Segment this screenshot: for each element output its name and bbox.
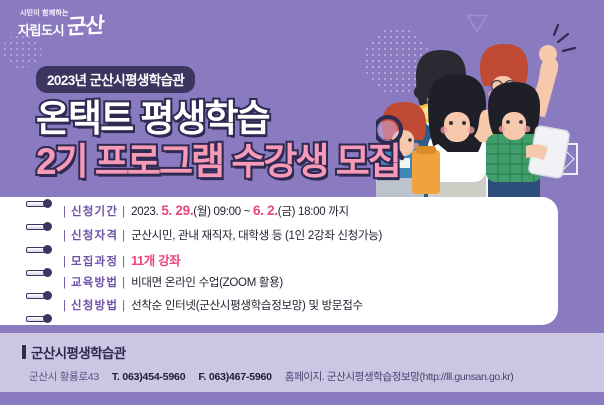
info-label: | 모집과정 |: [63, 253, 131, 269]
info-row-eligibility: | 신청자격 | 군산시민, 관내 재직자, 대학생 등 (1인 2강좌 신청가…: [63, 227, 533, 251]
footer-homepage[interactable]: 홈페이지. 군산시평생학습정보망(http://lll.gunsan.go.kr…: [285, 369, 514, 384]
period-suffix: (금) 18:00 까지: [278, 206, 349, 218]
period-start-date: 5. 29.: [161, 203, 193, 218]
headline-block: 2023년 군산시평생학습관 온택트 평생학습 2기 프로그램 수강생 모집: [36, 66, 400, 180]
ring-icon: [26, 268, 52, 277]
ring-icon: [26, 222, 52, 231]
info-list: | 신청기간 | 2023. 5. 29.(월) 09:00 ~ 6. 2.(금…: [63, 203, 533, 321]
title-line-1: 온택트 평생학습: [36, 100, 400, 137]
footer-telephone: T. 063)454-5960: [112, 371, 185, 383]
info-label-text: 신청방법: [71, 297, 118, 313]
info-label-text: 신청기간: [71, 203, 118, 219]
info-label: | 교육방법 |: [63, 274, 131, 290]
period-prefix: 2023.: [131, 206, 161, 218]
bottom-strip: [0, 392, 604, 405]
accent-bar-icon: [22, 345, 26, 359]
info-value: 군산시민, 관내 재직자, 대학생 등 (1인 2강좌 신청가능): [131, 227, 382, 243]
notebook-rings: [26, 199, 52, 323]
ring-icon: [26, 314, 52, 323]
period-end-date: 6. 2.: [253, 203, 278, 218]
ring-icon: [26, 291, 52, 300]
info-row-application-period: | 신청기간 | 2023. 5. 29.(월) 09:00 ~ 6. 2.(금…: [63, 203, 533, 227]
info-label-text: 모집과정: [71, 253, 118, 269]
city-logo-kind: 자립도시: [18, 24, 64, 38]
info-label-text: 교육방법: [71, 274, 118, 290]
info-value: 비대면 온라인 수업(ZOOM 활용): [131, 274, 283, 290]
info-row-course-count: | 모집과정 | 11개 강좌: [63, 250, 533, 274]
period-middle: (월) 09:00 ~: [193, 206, 253, 218]
info-label: | 신청자격 |: [63, 227, 131, 243]
people-illustration: [376, 18, 604, 216]
info-row-how-to-apply: | 신청방법 | 선착순 인터넷(군산시평생학습정보망) 및 방문접수: [63, 297, 533, 321]
footer-contacts: 군산시 황룡로43 T. 063)454-5960 F. 063)467-596…: [22, 369, 594, 384]
info-row-method: | 교육방법 | 비대면 온라인 수업(ZOOM 활용): [63, 274, 533, 298]
footer-org-name: 군산시평생학습관: [31, 342, 126, 362]
info-label: | 신청방법 |: [63, 297, 131, 313]
eyebrow-label: 2023년 군산시평생학습관: [36, 66, 195, 93]
info-label: | 신청기간 |: [63, 203, 131, 219]
footer-address: 군산시 황룡로43: [29, 369, 99, 384]
footer-fax: F. 063)467-5960: [198, 371, 271, 383]
info-label-text: 신청자격: [71, 227, 118, 243]
info-value: 선착순 인터넷(군산시평생학습정보망) 및 방문접수: [131, 297, 363, 313]
dot-pattern-corner-icon: [2, 34, 42, 68]
ring-icon: [26, 199, 52, 208]
footer: 군산시평생학습관 군산시 황룡로43 T. 063)454-5960 F. 06…: [0, 333, 604, 392]
poster-root: t 시민이 함께하는 자립도시 군산: [0, 0, 604, 405]
ring-icon: [26, 245, 52, 254]
city-logo-name: 군산: [67, 16, 105, 38]
info-value: 2023. 5. 29.(월) 09:00 ~ 6. 2.(금) 18:00 까…: [131, 203, 349, 219]
city-logo: 시민이 함께하는 자립도시 군산: [18, 10, 104, 37]
footer-org: 군산시평생학습관: [22, 342, 594, 362]
title-line-2: 2기 프로그램 수강생 모집: [36, 143, 400, 180]
info-value-course-count: 11개 강좌: [131, 250, 180, 269]
